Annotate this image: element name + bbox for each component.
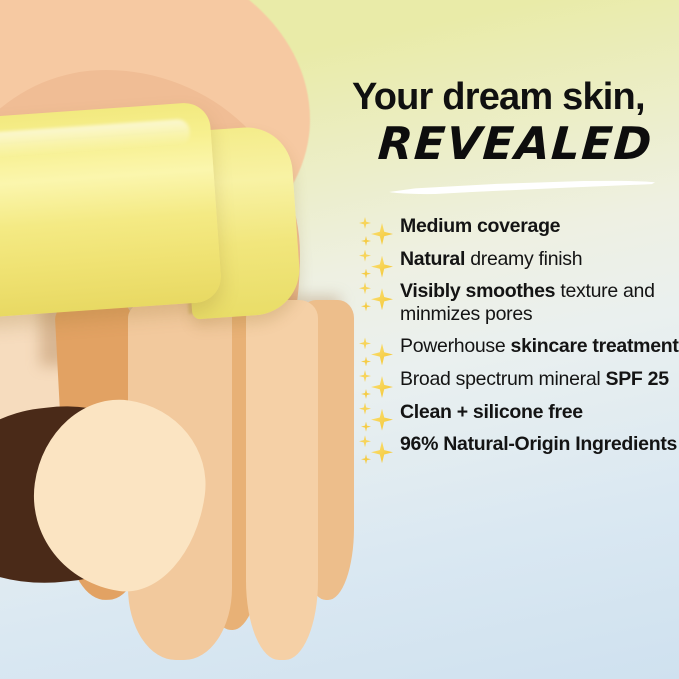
product-artwork xyxy=(0,0,360,679)
list-item: Powerhouse skincare treatment xyxy=(352,334,679,358)
benefit-bold: skincare treatment xyxy=(511,335,679,357)
benefit-regular: Powerhouse xyxy=(400,335,511,357)
list-item: Visibly smoothes texture and minmizes po… xyxy=(352,279,679,325)
benefit-text: Broad spectrum mineral SPF 25 xyxy=(400,367,679,391)
benefit-text: Visibly smoothes texture and minmizes po… xyxy=(400,279,679,325)
headline-line-1: Your dream skin, xyxy=(352,78,679,116)
sparkles-icon xyxy=(358,434,396,472)
benefit-regular: dreamy finish xyxy=(465,248,582,270)
marketing-copy: Your dream skin, REVEALED Medium coverag… xyxy=(348,0,679,679)
benefit-bold: Natural xyxy=(400,248,465,270)
benefit-text: 96% Natural-Origin Ingredients xyxy=(400,432,679,456)
foundation-drip-d xyxy=(246,300,318,660)
benefit-text: Powerhouse skincare treatment xyxy=(400,334,679,358)
list-item: Clean + silicone free xyxy=(352,400,679,424)
brush-underline-icon xyxy=(388,178,660,197)
benefit-bold: Clean + silicone free xyxy=(400,401,583,423)
product-marketing-image: Your dream skin, REVEALED Medium coverag… xyxy=(0,0,679,679)
benefit-bold: 96% Natural-Origin Ingredients xyxy=(400,433,677,455)
headline-line-2: REVEALED xyxy=(350,120,679,167)
benefit-regular: Broad spectrum mineral xyxy=(400,368,606,390)
benefit-bold: Medium coverage xyxy=(400,215,560,237)
headline-block: Your dream skin, REVEALED xyxy=(352,78,679,167)
benefit-text: Medium coverage xyxy=(400,214,679,238)
benefit-bold: SPF 25 xyxy=(606,368,669,390)
benefit-bold: Visibly smoothes xyxy=(400,280,555,302)
list-item: Natural dreamy finish xyxy=(352,247,679,271)
benefits-list: Medium coverage Natural dreamy finish Vi… xyxy=(352,214,679,465)
sparkles-icon xyxy=(358,281,396,319)
benefit-text: Clean + silicone free xyxy=(400,400,679,424)
list-item: Broad spectrum mineral SPF 25 xyxy=(352,367,679,391)
list-item: Medium coverage xyxy=(352,214,679,238)
benefit-text: Natural dreamy finish xyxy=(400,247,679,271)
list-item: 96% Natural-Origin Ingredients xyxy=(352,432,679,456)
